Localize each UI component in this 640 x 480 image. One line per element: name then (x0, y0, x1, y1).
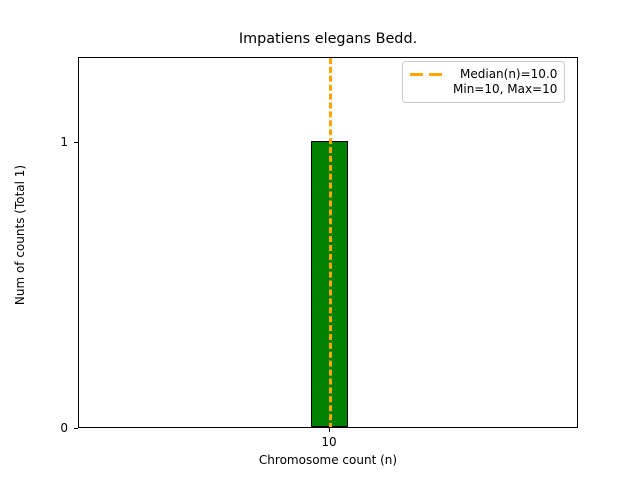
plot-area (78, 57, 578, 428)
legend-entry-median: Median(n)=10.0 Min=10, Max=10 (409, 67, 557, 97)
legend-label-minmax: Min=10, Max=10 (453, 82, 557, 97)
y-tick-label-0: 0 (60, 422, 68, 434)
chart-title: Impatiens elegans Bedd. (78, 31, 578, 48)
y-tick-label-1: 1 (60, 136, 68, 148)
legend-dashed-line-icon (409, 67, 445, 82)
x-tick-mark-10 (329, 428, 330, 432)
y-axis-label: Num of counts (Total 1) (13, 15, 27, 455)
legend: Median(n)=10.0 Min=10, Max=10 (402, 61, 565, 103)
x-tick-label-10: 10 (321, 435, 336, 449)
y-tick-mark-0 (74, 428, 78, 429)
x-axis-label: Chromosome count (n) (78, 453, 578, 467)
y-axis-label-container: Num of counts (Total 1) (0, 0, 24, 480)
chart-figure: Impatiens elegans Bedd. Num of counts (T… (0, 0, 640, 480)
median-vline (329, 58, 332, 428)
legend-label-median: Median(n)=10.0 (453, 67, 557, 82)
legend-label-group: Median(n)=10.0 Min=10, Max=10 (453, 67, 557, 97)
